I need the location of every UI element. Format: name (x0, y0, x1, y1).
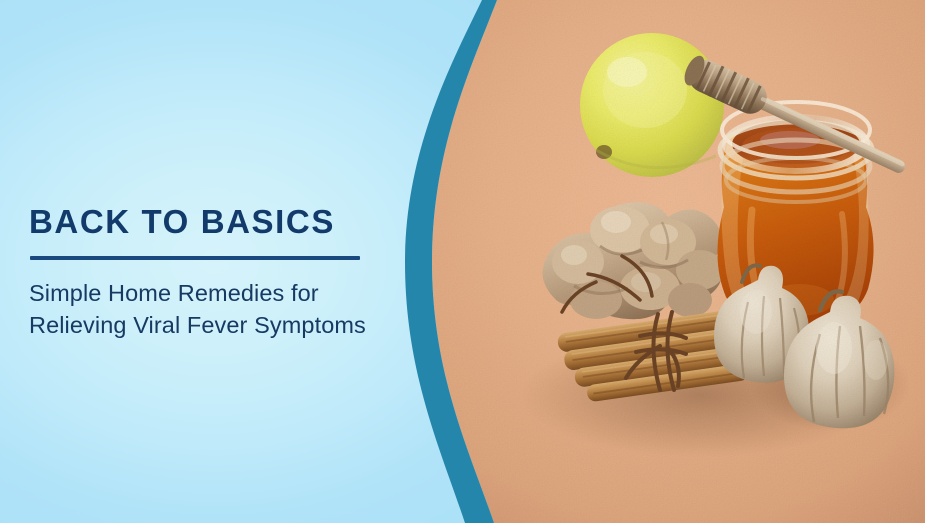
garlic-shadow (750, 339, 910, 431)
subtitle: Simple Home Remedies for Relieving Viral… (29, 277, 429, 341)
garlic-bulb-right (784, 291, 894, 428)
garlic-bulb-left (714, 265, 809, 382)
twine-tie (562, 256, 686, 390)
page-title: BACK TO BASICS (29, 204, 429, 240)
subtitle-line-2: Relieving Viral Fever Symptoms (29, 309, 429, 341)
honey-dipper (680, 53, 911, 184)
promotional-banner: BACK TO BASICS Simple Home Remedies for … (0, 0, 925, 523)
lemon (580, 33, 724, 177)
lemon-stem-nub (596, 145, 612, 159)
ginger-root (543, 202, 724, 319)
headline-block: BACK TO BASICS Simple Home Remedies for … (29, 204, 429, 341)
arrangement-shadow (520, 333, 880, 457)
title-divider-rule (30, 256, 360, 260)
cinnamon-sticks (557, 307, 763, 406)
subtitle-line-1: Simple Home Remedies for (29, 277, 429, 309)
honey-jar (717, 102, 873, 329)
